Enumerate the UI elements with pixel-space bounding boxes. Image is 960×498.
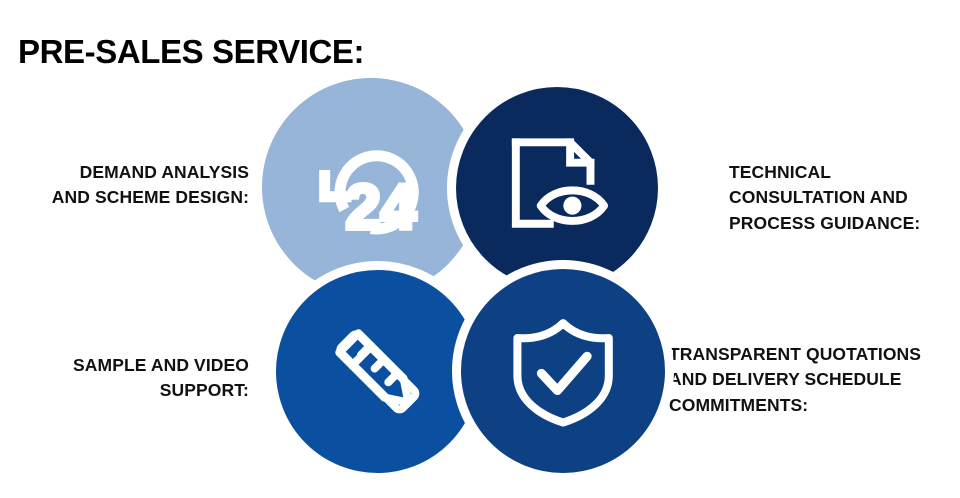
label-demand-analysis: DEMAND ANALYSIS AND SCHEME DESIGN: [0, 160, 249, 211]
page-title: PRE-SALES SERVICE: [18, 34, 364, 70]
svg-text:24: 24 [345, 172, 416, 242]
shield-check-icon [506, 314, 620, 428]
clock-24-arrow-icon: 24 [310, 126, 432, 248]
circle-transparent-quotations[interactable] [452, 260, 674, 482]
label-sample-video-support: SAMPLE AND VIDEO SUPPORT: [0, 353, 249, 404]
pencil-ruler-icon [321, 315, 435, 429]
document-eye-icon [500, 131, 613, 244]
label-transparent-quotations: TRANSPARENT QUOTATIONS AND DELIVERY SCHE… [669, 342, 960, 418]
circle-cluster: 24 [262, 78, 676, 482]
label-technical-consultation: TECHNICAL CONSULTATION AND PROCESS GUIDA… [729, 160, 960, 236]
